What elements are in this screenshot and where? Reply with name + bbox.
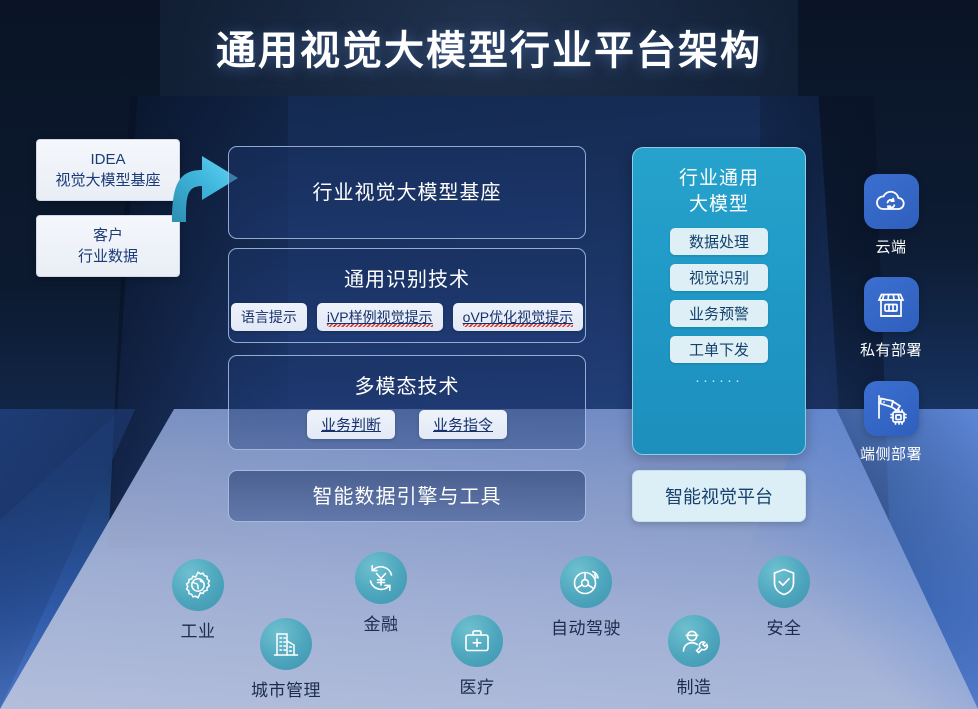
input-box-line1: IDEA xyxy=(41,149,175,170)
deployment-option-cloud[interactable]: 云端 xyxy=(836,174,946,257)
panel-item-business-alert[interactable]: 业务预警 xyxy=(670,300,768,327)
input-box-line2: 行业数据 xyxy=(41,246,175,267)
steering-wheel-signal-icon xyxy=(560,556,612,608)
input-box-customer-data[interactable]: 客户 行业数据 xyxy=(36,215,180,277)
pill-language-prompt[interactable]: 语言提示 xyxy=(231,303,307,331)
panel-title: 行业通用 大模型 xyxy=(633,148,805,218)
industry-label: 金融 xyxy=(326,610,436,635)
industry-item-city-management[interactable]: 城市管理 xyxy=(231,618,341,701)
input-box-line1: 客户 xyxy=(41,225,175,246)
panel-item-visual-recognition[interactable]: 视觉识别 xyxy=(670,264,768,291)
input-box-line2: 视觉大模型基座 xyxy=(41,170,175,191)
yuan-refresh-icon xyxy=(355,552,407,604)
shop-storefront-icon xyxy=(864,277,919,332)
pill-business-instruction[interactable]: 业务指令 xyxy=(419,410,507,439)
panel-title-line2: 大模型 xyxy=(633,192,805,218)
industry-label: 城市管理 xyxy=(231,676,341,701)
stack-card-title: 多模态技术 xyxy=(229,370,585,399)
panel-industry-general-model[interactable]: 行业通用 大模型 数据处理 视觉识别 业务预警 工单下发 ······ xyxy=(632,147,806,455)
camera-chip-icon xyxy=(864,381,919,436)
architecture-diagram-canvas: 通用视觉大模型行业平台架构 IDEA 视觉大模型基座 客户 行业数据 行业视觉大… xyxy=(0,0,978,709)
stack-card-industry-foundation[interactable]: 行业视觉大模型基座 xyxy=(228,146,586,239)
gear-globe-icon xyxy=(172,559,224,611)
panel-more-ellipsis: ······ xyxy=(633,372,805,389)
industry-label: 医疗 xyxy=(422,673,532,698)
cloud-sync-icon xyxy=(864,174,919,229)
deployment-label: 云端 xyxy=(836,236,946,257)
industry-item-security[interactable]: 安全 xyxy=(729,556,839,639)
pill-business-judgment[interactable]: 业务判断 xyxy=(307,410,395,439)
card-intelligent-vision-platform[interactable]: 智能视觉平台 xyxy=(632,470,806,522)
industry-item-healthcare[interactable]: 医疗 xyxy=(422,615,532,698)
panel-item-list: 数据处理 视觉识别 业务预警 工单下发 xyxy=(633,228,805,363)
page-title: 通用视觉大模型行业平台架构 xyxy=(0,18,978,76)
stack-card-title: 行业视觉大模型基座 xyxy=(229,147,585,240)
deployment-label: 端侧部署 xyxy=(836,443,946,464)
pill-ovp-optimized-visual-prompt[interactable]: oVP优化视觉提示 xyxy=(453,303,583,331)
panel-title-line1: 行业通用 xyxy=(633,166,805,192)
stack-card-title: 智能数据引擎与工具 xyxy=(229,471,585,523)
medical-kit-icon xyxy=(451,615,503,667)
industry-item-finance[interactable]: 金融 xyxy=(326,552,436,635)
deployment-option-private[interactable]: 私有部署 xyxy=(836,277,946,360)
building-icon xyxy=(260,618,312,670)
stack-card-general-recognition[interactable]: 通用识别技术 语言提示 iVP样例视觉提示 oVP优化视觉提示 xyxy=(228,248,586,343)
industry-item-autonomous-driving[interactable]: 自动驾驶 xyxy=(531,556,641,639)
shield-check-icon xyxy=(758,556,810,608)
deployment-label: 私有部署 xyxy=(836,339,946,360)
panel-item-work-order-dispatch[interactable]: 工单下发 xyxy=(670,336,768,363)
worker-wrench-icon xyxy=(668,615,720,667)
stack-card-title: 通用识别技术 xyxy=(229,263,585,292)
panel-item-data-processing[interactable]: 数据处理 xyxy=(670,228,768,255)
industry-label: 制造 xyxy=(639,673,749,698)
deployment-option-edge[interactable]: 端侧部署 xyxy=(836,381,946,464)
stack-card-pill-row: 业务判断 业务指令 xyxy=(229,410,585,439)
industry-label: 自动驾驶 xyxy=(531,614,641,639)
industry-label: 安全 xyxy=(729,614,839,639)
pill-ivp-sample-visual-prompt[interactable]: iVP样例视觉提示 xyxy=(317,303,443,331)
stack-card-pill-row: 语言提示 iVP样例视觉提示 oVP优化视觉提示 xyxy=(229,303,585,331)
stack-card-data-engine-tools[interactable]: 智能数据引擎与工具 xyxy=(228,470,586,522)
input-box-idea-foundation[interactable]: IDEA 视觉大模型基座 xyxy=(36,139,180,201)
stack-card-multimodal[interactable]: 多模态技术 业务判断 业务指令 xyxy=(228,355,586,450)
